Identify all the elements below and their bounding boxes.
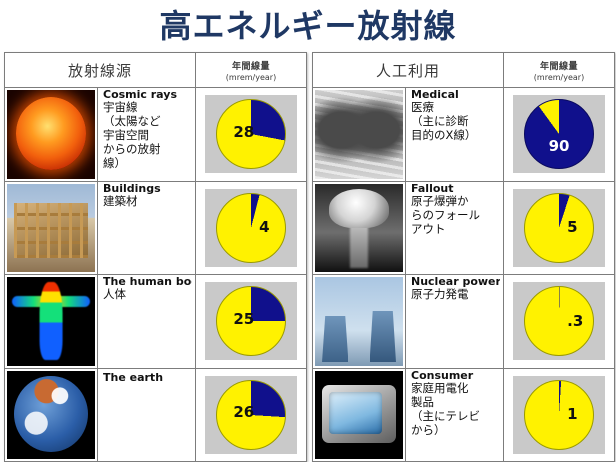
row-eng-label: Medical	[411, 90, 500, 100]
table-row: Medical 医療 （主に診断 目的のX線） 90	[313, 88, 614, 182]
artificial-sources-table: 人工利用 年間線量 (mrem/year) Medical 医療 （主に診断 目…	[312, 52, 615, 462]
row-pie-cell: 1	[504, 369, 614, 462]
row-label-cell: Medical 医療 （主に診断 目的のX線）	[406, 88, 504, 181]
row-label-cell: Consumer 家庭用電化 製品 （主にテレビ から）	[406, 369, 504, 462]
table-row: The earth 26	[5, 369, 306, 462]
row-pie-cell: 4	[196, 182, 306, 275]
pie-chart: 28	[216, 99, 286, 169]
table-row: Nuclear power 原子力発電 .3	[313, 275, 614, 369]
row-pie-cell: 25	[196, 275, 306, 368]
row-jp-label: 建築材	[103, 194, 192, 208]
row-label-cell: Nuclear power 原子力発電	[406, 275, 504, 368]
pie-chart-background: 5	[513, 189, 605, 267]
page-title: 高エネルギー放射線	[0, 0, 616, 52]
pie-chart-background: 26	[205, 376, 297, 454]
row-jp-label: 宇宙線 （太陽など 宇宙空間 からの放射 線）	[103, 100, 192, 170]
natural-sources-table: 放射線源 年間線量 (mrem/year) Cosmic rays 宇宙線 （太…	[4, 52, 307, 462]
pie-chart: 4	[216, 193, 286, 263]
row-eng-label: Consumer	[411, 371, 500, 381]
row-image-cell	[313, 182, 406, 275]
row-pie-cell: .3	[504, 275, 614, 368]
row-pie-cell: 90	[504, 88, 614, 181]
header-dose-cell: 年間線量 (mrem/year)	[196, 53, 306, 87]
pie-value-label: 90	[549, 137, 570, 155]
table-row: Fallout 原子爆弾か らのフォール アウト 5	[313, 182, 614, 276]
row-image-cell	[5, 182, 98, 275]
row-jp-label: 人体	[103, 287, 192, 301]
row-image-cell	[5, 88, 98, 181]
pie-value-label: 4	[259, 218, 269, 236]
pie-chart-background: 4	[205, 189, 297, 267]
pie-chart: 25	[216, 286, 286, 356]
television-photo	[315, 371, 403, 460]
row-label-cell: Cosmic rays 宇宙線 （太陽など 宇宙空間 からの放射 線）	[98, 88, 196, 181]
row-eng-label: The human body	[103, 277, 192, 287]
row-eng-label: Nuclear power	[411, 277, 500, 287]
header-dose-label: 年間線量	[540, 59, 578, 72]
pie-chart-background: 25	[205, 282, 297, 360]
row-pie-cell: 5	[504, 182, 614, 275]
pie-chart: .3	[524, 286, 594, 356]
row-jp-label: 原子力発電	[411, 287, 500, 301]
pie-chart: 26	[216, 380, 286, 450]
row-label-cell: Buildings 建築材	[98, 182, 196, 275]
row-label-cell: Fallout 原子爆弾か らのフォール アウト	[406, 182, 504, 275]
row-image-cell	[5, 369, 98, 462]
table-row: The human body 人体 25	[5, 275, 306, 369]
nuclear-explosion-photo	[315, 184, 403, 273]
header-dose-cell: 年間線量 (mrem/year)	[504, 53, 614, 87]
table-header-row: 人工利用 年間線量 (mrem/year)	[313, 53, 614, 88]
table-header-row: 放射線源 年間線量 (mrem/year)	[5, 53, 306, 88]
pie-value-label: 5	[567, 218, 577, 236]
row-pie-cell: 28	[196, 88, 306, 181]
header-dose-unit: (mrem/year)	[226, 73, 276, 82]
pie-value-label: 26	[233, 403, 254, 421]
pie-value-label: 1	[567, 405, 577, 423]
header-dose-unit: (mrem/year)	[534, 73, 584, 82]
row-image-cell	[5, 275, 98, 368]
row-eng-label: Fallout	[411, 184, 500, 194]
row-jp-label: 医療 （主に診断 目的のX線）	[411, 100, 500, 142]
header-source-label: 人工利用	[313, 53, 504, 87]
chest-xray-photo	[315, 90, 403, 179]
row-eng-label: The earth	[103, 371, 192, 384]
row-pie-cell: 26	[196, 369, 306, 462]
row-image-cell	[313, 275, 406, 368]
header-source-label: 放射線源	[5, 53, 196, 87]
pie-value-label: .3	[567, 312, 583, 330]
row-eng-label: Buildings	[103, 184, 192, 194]
row-jp-label: 原子爆弾か らのフォール アウト	[411, 194, 500, 236]
earth-photo	[7, 371, 95, 460]
header-dose-label: 年間線量	[232, 59, 270, 72]
row-image-cell	[313, 369, 406, 462]
sun-photo	[7, 90, 95, 179]
pie-chart-background: 28	[205, 95, 297, 173]
pie-chart: 5	[524, 193, 594, 263]
nuclear-power-plant-photo	[315, 277, 403, 366]
thermal-body-photo	[7, 277, 95, 366]
building-materials-photo	[7, 184, 95, 273]
pie-chart-background: 90	[513, 95, 605, 173]
tables-container: 放射線源 年間線量 (mrem/year) Cosmic rays 宇宙線 （太…	[0, 52, 616, 462]
pie-chart: 1	[524, 380, 594, 450]
table-row: Consumer 家庭用電化 製品 （主にテレビ から） 1	[313, 369, 614, 462]
pie-value-label: 25	[233, 310, 254, 328]
table-row: Cosmic rays 宇宙線 （太陽など 宇宙空間 からの放射 線） 28	[5, 88, 306, 182]
pie-chart-background: 1	[513, 376, 605, 454]
row-label-cell: The earth	[98, 369, 196, 462]
row-jp-label: 家庭用電化 製品 （主にテレビ から）	[411, 381, 500, 437]
row-eng-label: Cosmic rays	[103, 90, 192, 100]
pie-chart-background: .3	[513, 282, 605, 360]
row-label-cell: The human body 人体	[98, 275, 196, 368]
table-row: Buildings 建築材 4	[5, 182, 306, 276]
pie-chart: 90	[524, 99, 594, 169]
pie-value-label: 28	[233, 123, 254, 141]
row-image-cell	[313, 88, 406, 181]
